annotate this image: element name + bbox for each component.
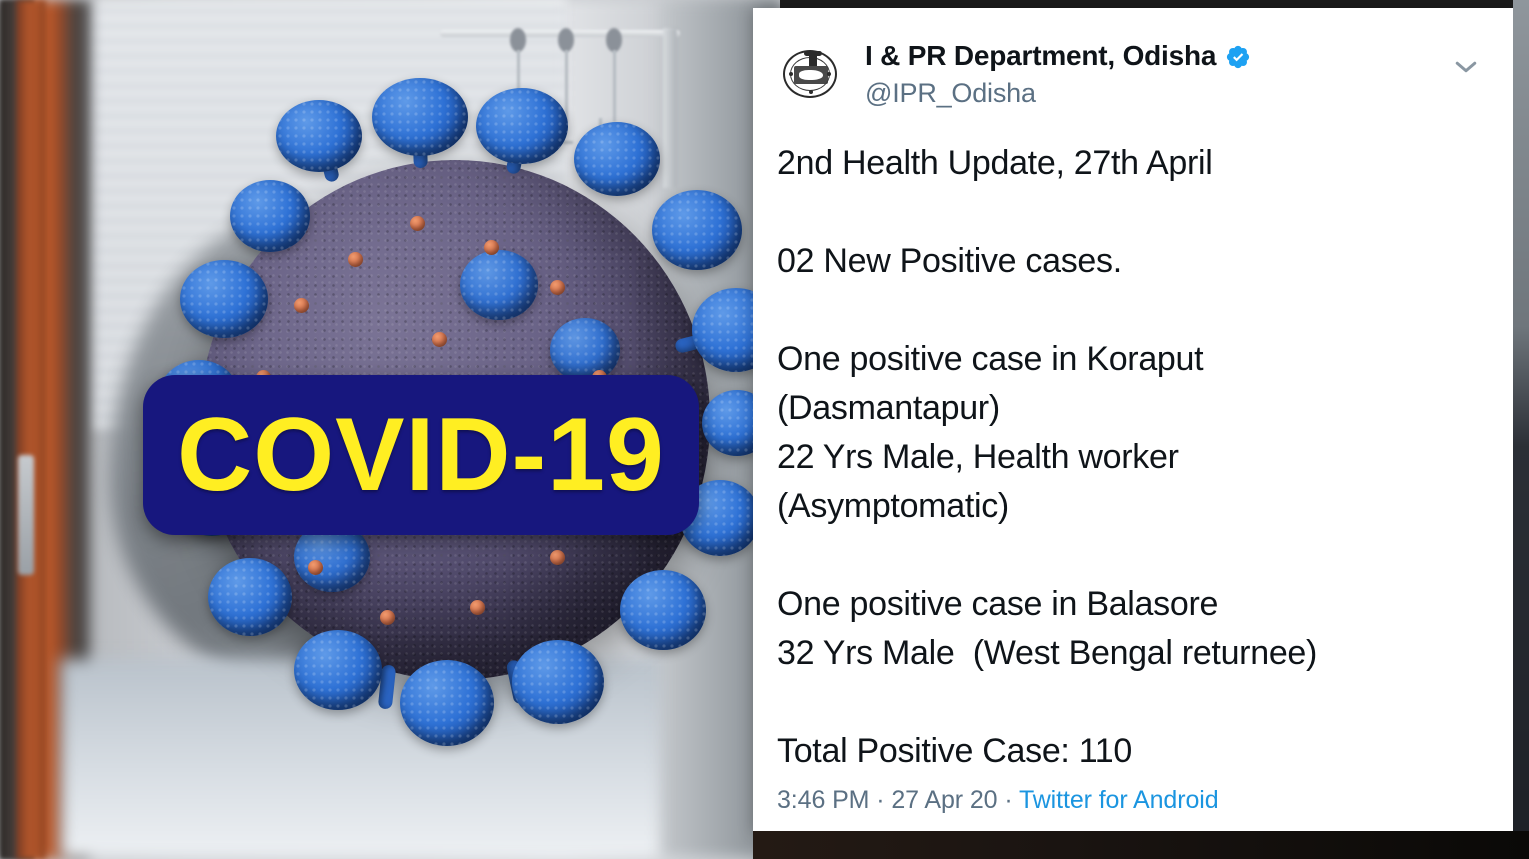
- spike-protein: [230, 180, 310, 252]
- covid-photo: COVID-19: [0, 0, 780, 859]
- surface-nub: [348, 252, 363, 267]
- emblem-dot: [809, 90, 813, 94]
- surface-nub: [380, 610, 395, 625]
- spike-protein: [372, 78, 468, 156]
- verified-badge-icon: [1225, 44, 1251, 70]
- government-emblem-icon: [783, 50, 837, 98]
- meta-separator-2: ·: [997, 786, 1018, 814]
- tweet-header: I & PR Department, Odisha @IPR_Odisha: [777, 36, 1487, 109]
- iv-knob: [510, 28, 526, 52]
- display-name[interactable]: I & PR Department, Odisha: [865, 40, 1216, 72]
- spike-protein: [550, 318, 620, 382]
- door-handle: [18, 455, 34, 575]
- surface-nub: [432, 332, 447, 347]
- surface-nub: [294, 298, 309, 313]
- photo-bottom-edge: [753, 831, 1529, 859]
- spike-protein: [276, 100, 362, 172]
- chevron-down-icon[interactable]: [1451, 52, 1481, 82]
- account-handle[interactable]: @IPR_Odisha: [865, 78, 1251, 109]
- screenshot-root: COVID-19 I & PR Department, Odisha: [0, 0, 1529, 859]
- meta-separator-1: ·: [869, 786, 891, 814]
- display-name-row: I & PR Department, Odisha: [865, 40, 1251, 72]
- account-names: I & PR Department, Odisha @IPR_Odisha: [865, 36, 1251, 109]
- surface-nub: [484, 240, 499, 255]
- spike-protein: [460, 250, 538, 320]
- tweet-metadata: 3:46 PM · 27 Apr 20 · Twitter for Androi…: [777, 786, 1487, 815]
- spike-protein: [476, 88, 568, 164]
- spike-protein: [574, 122, 660, 196]
- tweet-text: 2nd Health Update, 27th April 02 New Pos…: [777, 139, 1487, 776]
- emblem-horse-panel: [794, 66, 828, 84]
- surface-nub: [550, 550, 565, 565]
- emblem-crest: [809, 54, 817, 66]
- surface-nub: [410, 216, 425, 231]
- spike-protein: [652, 190, 742, 270]
- covid-19-label: COVID-19: [177, 403, 665, 507]
- covid-19-banner: COVID-19: [143, 375, 699, 535]
- spike-protein: [294, 630, 382, 710]
- photo-right-edge: [1513, 0, 1529, 859]
- spike-protein: [512, 640, 604, 724]
- iv-knob: [558, 28, 574, 52]
- surface-nub: [308, 560, 323, 575]
- emblem-dot: [789, 72, 793, 76]
- tweet-card: I & PR Department, Odisha @IPR_Odisha 2n…: [753, 8, 1513, 831]
- iv-knob: [606, 28, 622, 52]
- red-door-panel: [16, 0, 46, 859]
- spike-protein: [208, 558, 292, 636]
- avatar[interactable]: [777, 38, 843, 104]
- spike-protein: [180, 260, 268, 338]
- emblem-dot: [827, 72, 831, 76]
- surface-nub: [550, 280, 565, 295]
- spike-protein: [620, 570, 706, 650]
- tweet-time: 3:46 PM: [777, 786, 869, 814]
- tweet-source-link[interactable]: Twitter for Android: [1019, 786, 1219, 814]
- tweet-date: 27 Apr 20: [891, 786, 997, 814]
- spike-protein: [400, 660, 494, 746]
- surface-nub: [470, 600, 485, 615]
